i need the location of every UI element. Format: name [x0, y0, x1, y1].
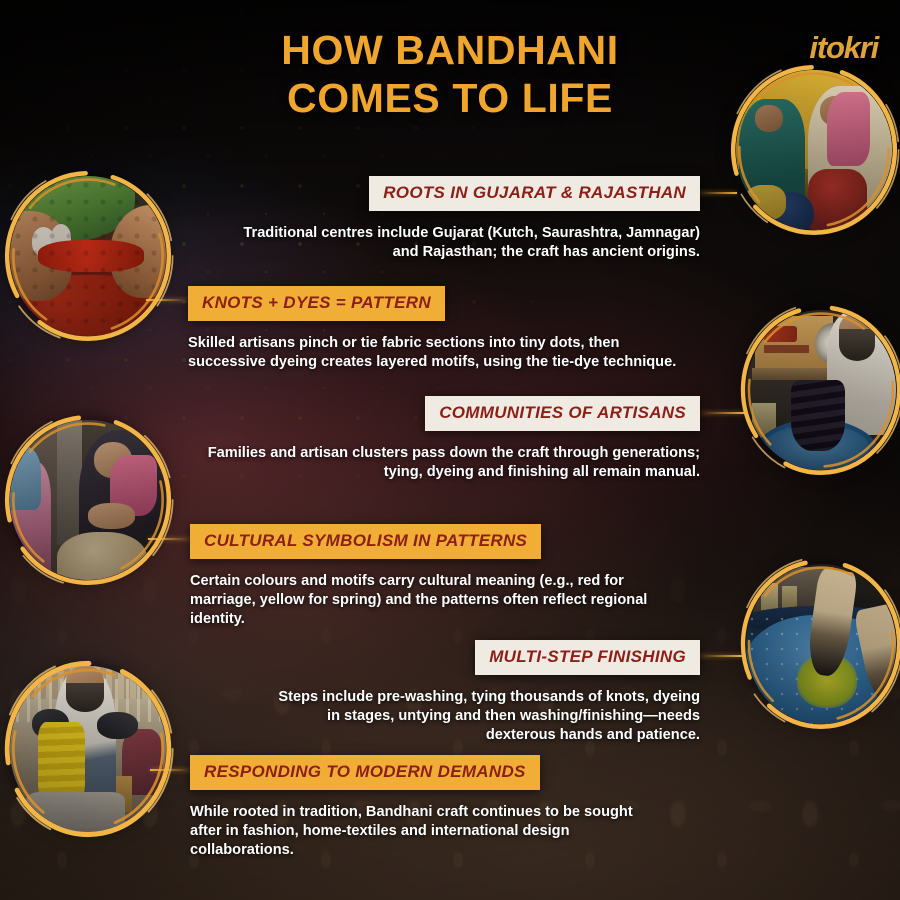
- section-body-multi-step-finishing: Steps include pre-washing, tying thousan…: [264, 688, 700, 745]
- photo-dyer-yellow-skein: [2, 658, 174, 840]
- section-cultural-symbolism: CULTURAL SYMBOLISM IN PATTERNS Certain c…: [190, 524, 670, 629]
- connector-modern-to-photo: [150, 769, 192, 771]
- connector-finishing-to-photo: [698, 655, 742, 657]
- photo-image-women-tying-bundle: [10, 420, 166, 580]
- photo-hands-tying-red-fabric: [2, 168, 174, 344]
- section-body-knots-dyes: Skilled artisans pinch or tie fabric sec…: [188, 334, 688, 372]
- section-heading-cultural-symbolism: CULTURAL SYMBOLISM IN PATTERNS: [190, 524, 541, 559]
- photo-disc: [736, 70, 892, 230]
- section-body-modern-demands: While rooted in tradition, Bandhani craf…: [190, 803, 660, 860]
- photo-image-women-tying-yellow-wall: [736, 70, 892, 230]
- brand-logo-itokri: itokri: [809, 30, 878, 66]
- section-roots: ROOTS IN GUJARAT & RAJASTHAN Traditional…: [236, 176, 700, 262]
- photo-disc: [10, 176, 166, 336]
- section-heading-roots: ROOTS IN GUJARAT & RAJASTHAN: [369, 176, 700, 211]
- photo-dyer-blue-tub: [738, 302, 900, 478]
- photo-vat-blue-bundles: [738, 556, 900, 732]
- connector-cultural-to-photo: [148, 538, 192, 540]
- photo-disc: [10, 420, 166, 580]
- photo-disc: [10, 666, 166, 832]
- section-modern-demands: RESPONDING TO MODERN DEMANDS While roote…: [190, 755, 660, 860]
- section-knots-dyes: KNOTS + DYES = PATTERN Skilled artisans …: [188, 286, 688, 372]
- section-body-roots: Traditional centres include Gujarat (Kut…: [236, 224, 700, 262]
- connector-roots-to-photo: [697, 192, 737, 194]
- section-heading-modern-demands: RESPONDING TO MODERN DEMANDS: [190, 755, 540, 790]
- photo-women-tying-yellow-wall: [728, 62, 900, 238]
- connector-knots-to-photo: [146, 299, 190, 301]
- section-heading-communities: COMMUNITIES OF ARTISANS: [425, 396, 700, 431]
- photo-disc: [746, 310, 896, 470]
- photo-disc: [746, 564, 896, 724]
- section-multi-step-finishing: MULTI-STEP FINISHING Steps include pre-w…: [264, 640, 700, 745]
- photo-image-vat-blue-bundles: [746, 564, 896, 724]
- infographic-poster: HOW BANDHANI COMES TO LIFE itokri: [0, 0, 900, 900]
- connector-communities-to-photo: [700, 412, 744, 414]
- photo-image-dyer-yellow-skein: [10, 666, 166, 832]
- photo-image-hands-tying-red-fabric: [10, 176, 166, 336]
- photo-women-tying-bundle: [2, 412, 174, 588]
- section-body-communities: Families and artisan clusters pass down …: [204, 444, 700, 482]
- section-heading-knots-dyes: KNOTS + DYES = PATTERN: [188, 286, 445, 321]
- photo-image-dyer-blue-tub: [746, 310, 896, 470]
- section-heading-multi-step-finishing: MULTI-STEP FINISHING: [475, 640, 700, 675]
- section-communities: COMMUNITIES OF ARTISANS Families and art…: [204, 396, 700, 482]
- section-body-cultural-symbolism: Certain colours and motifs carry cultura…: [190, 572, 670, 629]
